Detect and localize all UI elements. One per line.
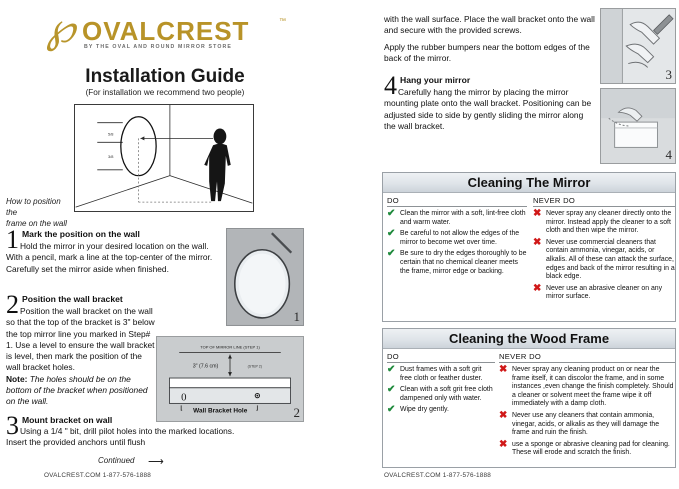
- step-2-heading: Position the wall bracket: [22, 294, 123, 304]
- brand-tagline: BY THE OVAL AND ROUND MIRROR STORE: [84, 44, 232, 50]
- mirror-never-column: NEVER DO ✖Never spray any cleaner direct…: [533, 196, 675, 305]
- list-item: ✔Be careful to not allow the edges of th…: [387, 230, 527, 247]
- page-title: Installation Guide: [0, 66, 330, 88]
- check-icon: ✔: [387, 405, 395, 414]
- step-2-body: Position the wall bracket on the wall so…: [6, 306, 156, 408]
- right-paragraph-2: Apply the rubber bumpers near the bottom…: [384, 42, 596, 65]
- check-icon: ✔: [387, 365, 395, 374]
- svg-text:0: 0: [181, 391, 186, 403]
- svg-text:(STEP 2): (STEP 2): [248, 364, 262, 368]
- list-item: ✖Never spray any cleaner directly onto t…: [533, 210, 675, 236]
- list-item: ✔Clean the mirror with a soft, lint-free…: [387, 210, 527, 227]
- step-1-heading: Mark the position on the wall: [22, 229, 140, 239]
- cross-icon: ✖: [499, 365, 507, 374]
- mirror-never-list: ✖Never spray any cleaner directly onto t…: [533, 210, 675, 302]
- step-4-heading: Hang your mirror: [400, 75, 470, 85]
- cleaning-wood-body: DO ✔Dust frames with a soft grit free cl…: [383, 349, 675, 467]
- step-2-note: Note: The holes should be on the bottom …: [6, 374, 156, 408]
- svg-text:TOP OF MIRROR LINE (STEP 1): TOP OF MIRROR LINE (STEP 1): [200, 345, 260, 350]
- bracket-diagram-svg: TOP OF MIRROR LINE (STEP 1) 3" (7.6 cm) …: [157, 337, 303, 421]
- photo-number-3: 3: [666, 67, 673, 83]
- continued-label: Continued: [98, 456, 134, 465]
- photo-number-1: 1: [294, 309, 301, 325]
- note-text: The holes should be on the bottom of the…: [6, 374, 148, 407]
- wood-never-list: ✖Never spray any cleaning product on or …: [499, 366, 675, 458]
- check-icon: ✔: [387, 249, 395, 258]
- mirror-never-header: NEVER DO: [533, 196, 675, 207]
- check-icon: ✔: [387, 229, 395, 238]
- list-item-text: Never use commercial cleaners that conta…: [546, 239, 675, 280]
- list-item-text: Dust frames with a soft grit free cloth …: [400, 366, 482, 382]
- wood-never-column: NEVER DO ✖Never spray any cleaning produ…: [499, 352, 675, 461]
- oval-mirror-photo: 1: [226, 228, 304, 326]
- mirror-do-list: ✔Clean the mirror with a soft, lint-free…: [387, 210, 527, 276]
- list-item: ✔Wipe dry gently.: [387, 406, 495, 415]
- screwdriver-bracket-photo: 3: [600, 8, 676, 84]
- cross-icon: ✖: [533, 238, 541, 247]
- list-item-text: Clean the mirror with a soft, lint-free …: [400, 210, 526, 226]
- step-1-body: Hold the mirror in your desired location…: [6, 241, 224, 275]
- list-item-text: Be careful to not allow the edges of the…: [400, 230, 519, 246]
- svg-text:3/8: 3/8: [108, 154, 113, 159]
- trademark-symbol: ™: [279, 18, 286, 25]
- photo-number-4: 4: [666, 147, 673, 163]
- step-4-body: Carefully hang the mirror by placing the…: [384, 87, 596, 132]
- list-item: ✔Dust frames with a soft grit free cloth…: [387, 366, 495, 383]
- step-2-text: Position the wall bracket on the wall so…: [6, 306, 155, 372]
- mirror-do-header: DO: [387, 196, 527, 207]
- arrow-right-icon: ⟶: [148, 455, 164, 468]
- list-item-text: Never use any cleaners that contain ammo…: [512, 412, 659, 436]
- step-3-heading: Mount bracket on wall: [22, 415, 112, 425]
- oval-monogram-icon: ℘: [46, 12, 86, 48]
- list-item-text: Never use an abrasive cleaner on any mir…: [546, 285, 662, 301]
- list-item: ✔Clean with a soft grit free cloth dampe…: [387, 386, 495, 403]
- brand-name: OVALCREST: [82, 16, 249, 47]
- list-item-text: use a sponge or abrasive cleaning pad fo…: [512, 441, 670, 457]
- room-position-diagram: 5/8 3/8: [74, 104, 254, 212]
- cleaning-wood-frame-panel: Cleaning the Wood Frame DO ✔Dust frames …: [382, 328, 676, 468]
- right-paragraph-1: with the wall surface. Place the wall br…: [384, 14, 596, 37]
- list-item: ✔Be sure to dry the edges thoroughly to …: [387, 250, 527, 276]
- list-item: ✖Never use an abrasive cleaner on any mi…: [533, 285, 675, 302]
- list-item: ✖Never spray any cleaning product on or …: [499, 366, 675, 409]
- step-1-text: Hold the mirror in your desired location…: [6, 241, 212, 274]
- list-item: ✖Never use any cleaners that contain amm…: [499, 412, 675, 438]
- hanging-mirror-photo: 4: [600, 88, 676, 164]
- wall-bracket-diagram: TOP OF MIRROR LINE (STEP 1) 3" (7.6 cm) …: [156, 336, 304, 422]
- cleaning-mirror-body: DO ✔Clean the mirror with a soft, lint-f…: [383, 193, 675, 321]
- note-label: Note:: [6, 374, 27, 384]
- list-item: ✖use a sponge or abrasive cleaning pad f…: [499, 441, 675, 458]
- footer-left: OVALCREST.COM 1-877-576-1888: [44, 472, 151, 479]
- svg-text:5/8: 5/8: [108, 131, 113, 136]
- cleaning-wood-title: Cleaning the Wood Frame: [383, 329, 675, 349]
- wood-do-list: ✔Dust frames with a soft grit free cloth…: [387, 366, 495, 415]
- wood-do-column: DO ✔Dust frames with a soft grit free cl…: [387, 352, 495, 418]
- cleaning-mirror-panel: Cleaning The Mirror DO ✔Clean the mirror…: [382, 172, 676, 322]
- cleaning-mirror-title: Cleaning The Mirror: [383, 173, 675, 193]
- list-item-text: Be sure to dry the edges thoroughly to b…: [400, 250, 526, 274]
- list-item-text: Never spray any cleaning product on or n…: [512, 366, 674, 407]
- screwdriver-photo-svg: [601, 9, 675, 83]
- photo-number-2: 2: [294, 405, 301, 421]
- step-3-text: Using a 1/4 " bit, drill pilot holes int…: [6, 426, 234, 447]
- check-icon: ✔: [387, 385, 395, 394]
- mirror-do-column: DO ✔Clean the mirror with a soft, lint-f…: [387, 196, 527, 279]
- installation-guide-page: ℘ OVALCREST ™ BY THE OVAL AND ROUND MIRR…: [0, 0, 679, 489]
- wood-do-header: DO: [387, 352, 495, 363]
- right-column: with the wall surface. Place the wall br…: [380, 0, 679, 489]
- list-item-text: Clean with a soft grit free cloth dampen…: [400, 386, 493, 402]
- svg-text:3" (7.6 cm): 3" (7.6 cm): [193, 363, 219, 369]
- cross-icon: ✖: [499, 440, 507, 449]
- list-item-text: Never spray any cleaner directly onto th…: [546, 210, 671, 234]
- wood-never-header: NEVER DO: [499, 352, 675, 363]
- left-column: ℘ OVALCREST ™ BY THE OVAL AND ROUND MIRR…: [0, 0, 372, 489]
- page-subtitle: (For installation we recommend two peopl…: [0, 88, 330, 97]
- cross-icon: ✖: [533, 284, 541, 293]
- step-3-body: Using a 1/4 " bit, drill pilot holes int…: [6, 426, 256, 449]
- cross-icon: ✖: [499, 411, 507, 420]
- brand-logo: ℘ OVALCREST ™ BY THE OVAL AND ROUND MIRR…: [46, 14, 306, 54]
- footer-right: OVALCREST.COM 1-877-576-1888: [384, 472, 491, 479]
- list-item: ✖Never use commercial cleaners that cont…: [533, 239, 675, 282]
- hanging-photo-svg: [601, 89, 675, 163]
- room-diagram-svg: 5/8 3/8: [75, 105, 253, 211]
- mirror-photo-svg: [227, 229, 303, 325]
- list-item-text: Wipe dry gently.: [400, 406, 449, 413]
- check-icon: ✔: [387, 209, 395, 218]
- svg-text:Wall Bracket Hole: Wall Bracket Hole: [193, 408, 248, 415]
- cross-icon: ✖: [533, 209, 541, 218]
- step-4-text: Carefully hang the mirror by placing the…: [384, 87, 591, 131]
